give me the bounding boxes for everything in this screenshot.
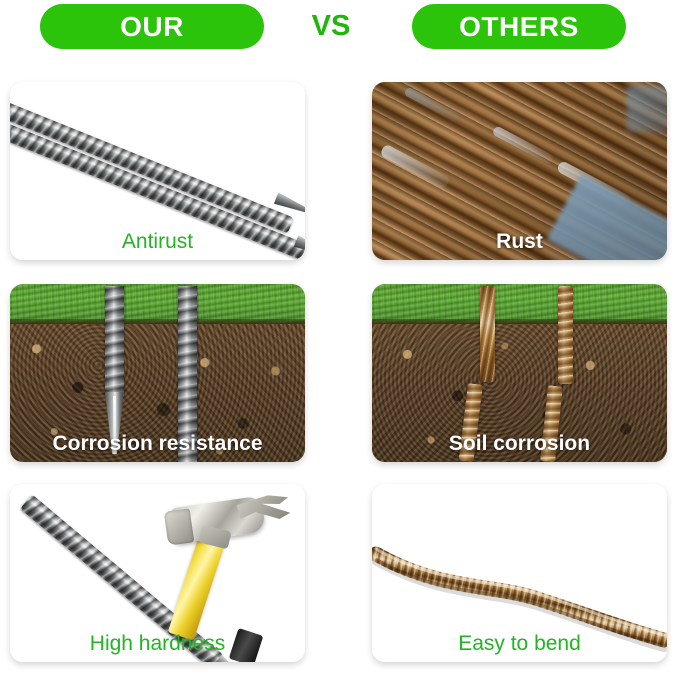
soil-layer <box>10 324 305 462</box>
vs-label: VS <box>296 9 366 44</box>
card-ours-corrosion-resistance: Corrosion resistance <box>10 284 305 462</box>
grass-layer <box>10 284 305 324</box>
comparison-grid: Antirust Rust Corrosion resistance <box>0 56 679 673</box>
bent-rebar-svg <box>372 484 667 662</box>
card-theirs-easy-to-bend: Easy to bend <box>372 484 667 662</box>
steel-stake-buried-2 <box>178 286 197 462</box>
scene-bent-rusty-rebar <box>372 484 667 662</box>
card-ours-high-hardness: High hardness <box>10 484 305 662</box>
steel-stake-buried-1-tip-groove <box>113 396 116 452</box>
card-theirs-soil-corrosion: Soil corrosion <box>372 284 667 462</box>
scene-steel-rebar-pair <box>10 82 305 260</box>
card-theirs-rust: Rust <box>372 82 667 260</box>
our-pill-badge: OUR <box>40 4 264 49</box>
bent-rebar-graphic <box>372 484 667 662</box>
hammer-striking-face <box>164 508 194 545</box>
scene-rusty-rebar-stack <box>372 82 667 260</box>
soil-layer <box>372 324 667 462</box>
mineral-deposit-streak-1 <box>379 143 450 189</box>
grass-layer <box>372 284 667 324</box>
scene-soil-cross-section-rusty <box>372 284 667 462</box>
blue-background-patch <box>547 174 667 260</box>
rusty-stake-b-upper <box>558 286 573 384</box>
steel-stake-buried-1 <box>105 286 124 396</box>
card-ours-antirust: Antirust <box>10 82 305 260</box>
comparison-header: OUR VS OTHERS <box>0 0 679 56</box>
our-pill-label: OUR <box>120 13 184 41</box>
others-pill-label: OTHERS <box>459 13 579 41</box>
rusty-stake-a-upper <box>480 286 495 382</box>
scene-soil-cross-section-steel <box>10 284 305 462</box>
mineral-deposit-streak-2 <box>492 125 555 165</box>
blue-background-patch-2 <box>627 86 667 132</box>
scene-rebar-with-hammer <box>10 484 305 662</box>
others-pill-badge: OTHERS <box>412 4 626 49</box>
mineral-deposit-streak-4 <box>403 86 460 122</box>
